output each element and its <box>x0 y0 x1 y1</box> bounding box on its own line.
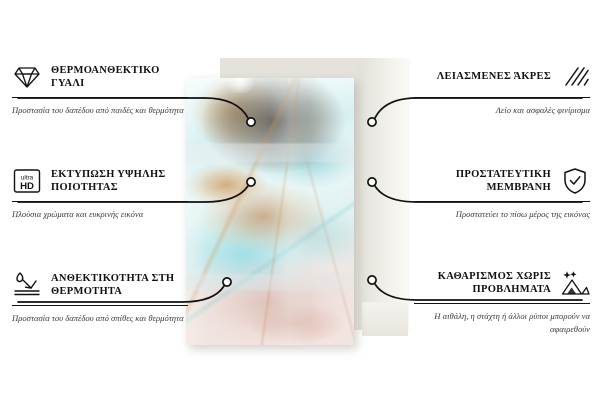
heat-resistance-icon <box>12 271 42 299</box>
feature-title: ΕΚΤΥΠΩΣΗ ΥΨΗΛΗΣ ΠΟΙΟΤΗΤΑΣ <box>51 168 188 195</box>
feature-description: Λείο και ασφαλές φινίρισμα <box>414 104 590 117</box>
glass-panel <box>186 78 354 345</box>
feature-header: ΛΕΙΑΣΜΕΝΕΣ ΆΚΡΕΣ <box>414 62 590 92</box>
divider <box>414 97 590 98</box>
svg-text:HD: HD <box>20 181 34 192</box>
feature-description: Προστατεύει το πίσω μέρος της εικόνας <box>414 208 590 221</box>
feature-description: Πλούσια χρώματα και ευκρινής εικόνα <box>12 208 188 221</box>
feature-header: ΚΑΘΑΡΙΣΜΟΣ ΧΩΡΙΣ ΠΡΟΒΛΗΜΑΤΑ <box>414 268 590 298</box>
backdrop-wall-light <box>358 58 410 330</box>
feature-title: ΘΕΡΜΟΑΝΘΕΚΤΙΚΟ ΓΥΑΛΙ <box>51 64 188 91</box>
feature-header: ΠΡΟΣΤΑΤΕΥΤΙΚΗ ΜΕΜΒΡΑΝΗ <box>414 166 590 196</box>
glass-reflection <box>186 78 354 345</box>
feature-title: ΚΑΘΑΡΙΣΜΟΣ ΧΩΡΙΣ ΠΡΟΒΛΗΜΑΤΑ <box>414 270 551 297</box>
feature-high-quality-print: ultra HD ΕΚΤΥΠΩΣΗ ΥΨΗΛΗΣ ΠΟΙΟΤΗΤΑΣ Πλούσ… <box>12 166 188 221</box>
floor-tile <box>362 302 408 336</box>
feature-title: ΑΝΘΕΚΤΙΚΟΤΗΤΑ ΣΤΗ ΘΕΡΜΟΤΗΤΑ <box>51 272 188 299</box>
feature-header: ΘΕΡΜΟΑΝΘΕΚΤΙΚΟ ΓΥΑΛΙ <box>12 62 188 92</box>
polished-edges-icon <box>560 63 590 91</box>
feature-heat-durability: ΑΝΘΕΚΤΙΚΟΤΗΤΑ ΣΤΗ ΘΕΡΜΟΤΗΤΑ Προστασία το… <box>12 270 188 325</box>
divider <box>414 303 590 304</box>
infographic-root: ΘΕΡΜΟΑΝΘΕΚΤΙΚΟ ΓΥΑΛΙ Προστασία του δαπέδ… <box>0 0 600 400</box>
feature-description: Προστασία του δαπέδου από παιδές και θερ… <box>12 104 188 117</box>
feature-header: ultra HD ΕΚΤΥΠΩΣΗ ΥΨΗΛΗΣ ΠΟΙΟΤΗΤΑΣ <box>12 166 188 196</box>
divider <box>414 201 590 202</box>
product-image <box>180 50 426 350</box>
glass-glare <box>223 78 257 93</box>
feature-title: ΛΕΙΑΣΜΕΝΕΣ ΆΚΡΕΣ <box>437 70 551 83</box>
feature-description: Η αιθάλη, η στάχτη ή άλλοι ρύποι μπορούν… <box>414 310 590 336</box>
divider <box>12 305 188 306</box>
diamond-icon <box>12 63 42 91</box>
feature-polished-edges: ΛΕΙΑΣΜΕΝΕΣ ΆΚΡΕΣ Λείο και ασφαλές φινίρι… <box>414 62 590 117</box>
divider <box>12 201 188 202</box>
easy-clean-sparkle-icon <box>560 269 590 297</box>
feature-easy-cleaning: ΚΑΘΑΡΙΣΜΟΣ ΧΩΡΙΣ ΠΡΟΒΛΗΜΑΤΑ Η αιθάλη, η … <box>414 268 590 336</box>
shield-check-icon <box>560 167 590 195</box>
feature-title: ΠΡΟΣΤΑΤΕΥΤΙΚΗ ΜΕΜΒΡΑΝΗ <box>414 168 551 195</box>
feature-description: Προστασία του δαπέδου από σπίθες και θερ… <box>12 312 188 325</box>
feature-header: ΑΝΘΕΚΤΙΚΟΤΗΤΑ ΣΤΗ ΘΕΡΜΟΤΗΤΑ <box>12 270 188 300</box>
feature-heat-resistant-glass: ΘΕΡΜΟΑΝΘΕΚΤΙΚΟ ΓΥΑΛΙ Προστασία του δαπέδ… <box>12 62 188 117</box>
ultra-hd-icon: ultra HD <box>12 167 42 195</box>
feature-protective-membrane: ΠΡΟΣΤΑΤΕΥΤΙΚΗ ΜΕΜΒΡΑΝΗ Προστατεύει το πί… <box>414 166 590 221</box>
divider <box>12 97 188 98</box>
